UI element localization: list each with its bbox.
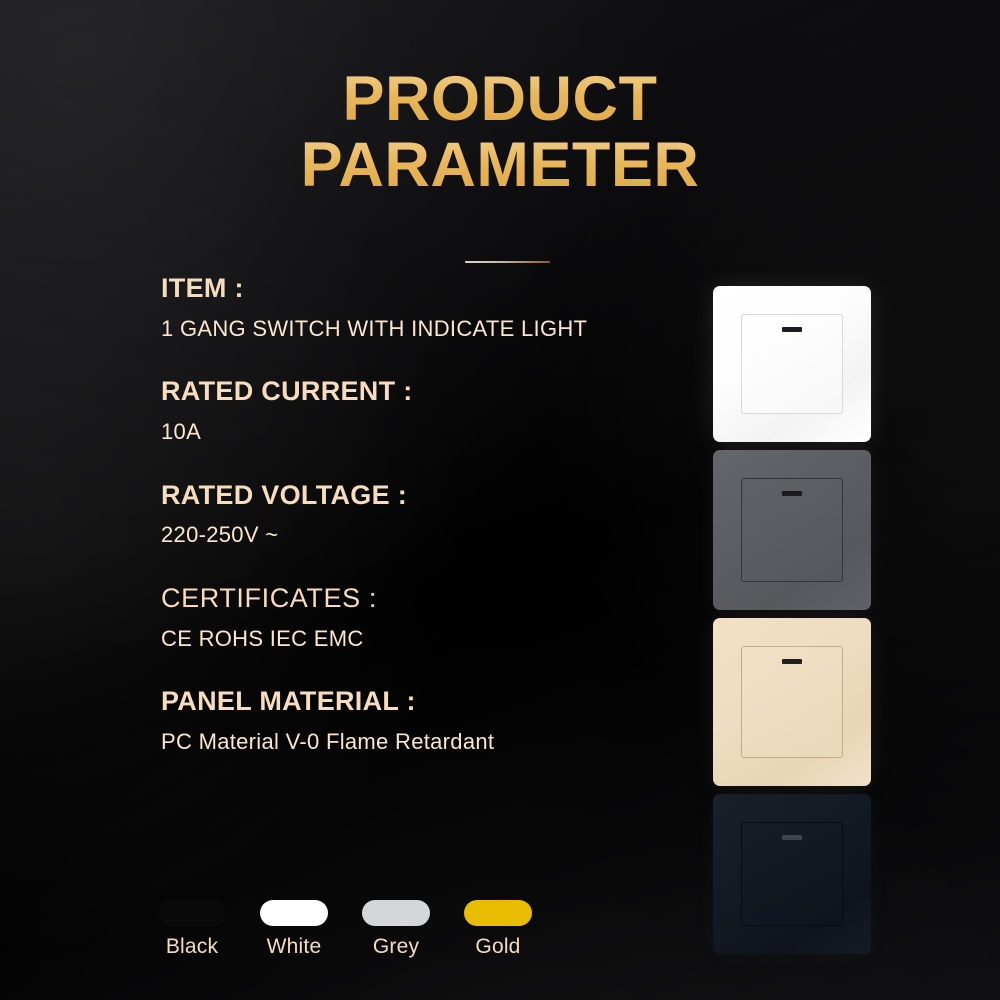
color-swatch-group: Black White Grey Gold	[158, 900, 578, 959]
spec-list: ITEM : 1 GANG SWITCH WITH INDICATE LIGHT…	[161, 272, 701, 757]
spec-row-certificates: CERTIFICATES : CE ROHS IEC EMC	[161, 582, 701, 653]
color-swatch-white[interactable]	[260, 900, 328, 926]
spec-label-certificates: CERTIFICATES :	[161, 582, 701, 616]
spec-row-rated-current: RATED CURRENT : 10A	[161, 375, 701, 446]
spec-label-rated-current: RATED CURRENT :	[161, 375, 701, 409]
color-swatch-grey[interactable]	[362, 900, 430, 926]
indicator-light-icon-white	[782, 327, 802, 332]
switch-photo-column	[713, 286, 881, 962]
color-label-grey: Grey	[362, 935, 430, 959]
spec-value-rated-current: 10A	[161, 418, 701, 447]
spec-label-panel-material: PANEL MATERIAL :	[161, 685, 701, 719]
title-divider	[465, 261, 550, 263]
spec-value-item: 1 GANG SWITCH WITH INDICATE LIGHT	[161, 315, 701, 344]
indicator-light-icon-grey	[782, 491, 802, 496]
color-label-gold: Gold	[464, 935, 532, 959]
color-swatch-black[interactable]	[158, 900, 226, 926]
spec-row-panel-material: PANEL MATERIAL : PC Material V-0 Flame R…	[161, 685, 701, 756]
color-label-black: Black	[158, 935, 226, 959]
switch-photo-white	[713, 286, 871, 442]
spec-value-rated-voltage: 220-250V ~	[161, 521, 701, 550]
color-swatch-labels: Black White Grey Gold	[158, 935, 578, 959]
page-title: PRODUCT PARAMETER	[0, 68, 1000, 197]
indicator-light-icon-champagne	[782, 659, 802, 664]
color-swatch-gold[interactable]	[464, 900, 532, 926]
spec-row-rated-voltage: RATED VOLTAGE : 220-250V ~	[161, 479, 701, 550]
product-parameter-poster: PRODUCT PARAMETER ITEM : 1 GANG SWITCH W…	[0, 0, 1000, 1000]
spec-value-panel-material: PC Material V-0 Flame Retardant	[161, 728, 701, 757]
page-title-line-1: PRODUCT	[0, 68, 1000, 130]
switch-photo-champagne	[713, 618, 871, 786]
page-title-line-2: PARAMETER	[0, 134, 1000, 196]
indicator-light-icon-black	[782, 835, 802, 840]
color-label-white: White	[260, 935, 328, 959]
spec-label-rated-voltage: RATED VOLTAGE :	[161, 479, 701, 513]
spec-row-item: ITEM : 1 GANG SWITCH WITH INDICATE LIGHT	[161, 272, 701, 343]
color-swatch-pills	[158, 900, 578, 926]
spec-value-certificates: CE ROHS IEC EMC	[161, 625, 701, 654]
spec-label-item: ITEM :	[161, 272, 701, 306]
switch-photo-black	[713, 794, 871, 954]
switch-photo-grey	[713, 450, 871, 610]
